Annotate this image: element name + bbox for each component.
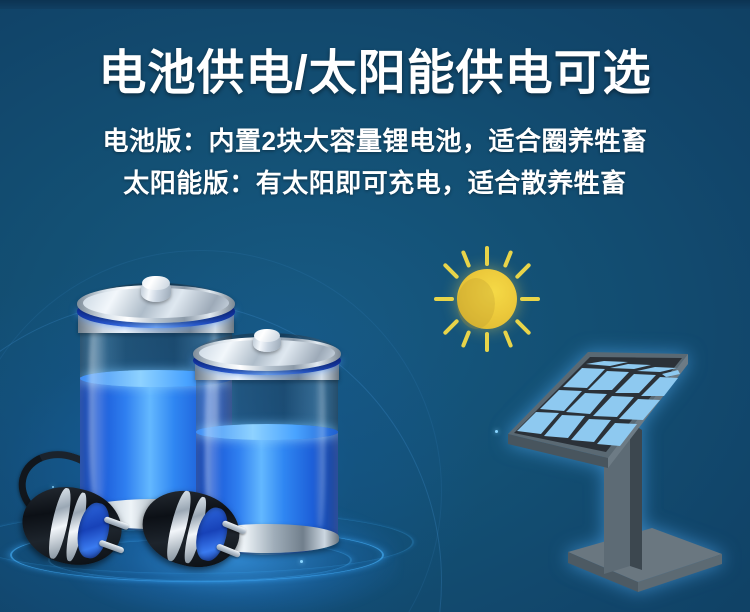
sun-ray bbox=[443, 263, 460, 280]
battery-small-highlight-2 bbox=[315, 355, 325, 528]
page-title: 电池供电/太阳能供电可选 bbox=[0, 46, 750, 102]
glow-speck bbox=[300, 560, 303, 563]
panel-base-top bbox=[568, 528, 722, 582]
solar-panel bbox=[500, 330, 750, 612]
sun-shadow bbox=[457, 278, 495, 329]
sun-ray bbox=[461, 330, 471, 348]
glow-speck bbox=[495, 430, 498, 433]
battery-large-terminal-top bbox=[142, 276, 169, 291]
sun-ray bbox=[503, 250, 513, 268]
sun-ray bbox=[461, 250, 471, 268]
solar-panel-svg bbox=[500, 330, 750, 612]
battery-large-highlight bbox=[89, 303, 107, 511]
subtitle-solar: 太阳能版：有太阳即可充电，适合散养牲畜 bbox=[0, 166, 750, 200]
sun-ray bbox=[515, 263, 532, 280]
sun-ray bbox=[434, 297, 454, 301]
sun-ray bbox=[485, 246, 489, 266]
sun-ray bbox=[485, 332, 489, 352]
battery-small-terminal-top bbox=[254, 329, 280, 342]
subtitle-battery: 电池版：内置2块大容量锂电池，适合圈养牲畜 bbox=[0, 124, 750, 158]
sun-ray bbox=[520, 297, 540, 301]
promo-banner: 电池供电/太阳能供电可选 电池版：内置2块大容量锂电池，适合圈养牲畜 太阳能版：… bbox=[0, 0, 750, 612]
top-edge-band bbox=[0, 0, 750, 9]
panel-post-right bbox=[630, 422, 642, 570]
sun-ray bbox=[443, 319, 460, 336]
